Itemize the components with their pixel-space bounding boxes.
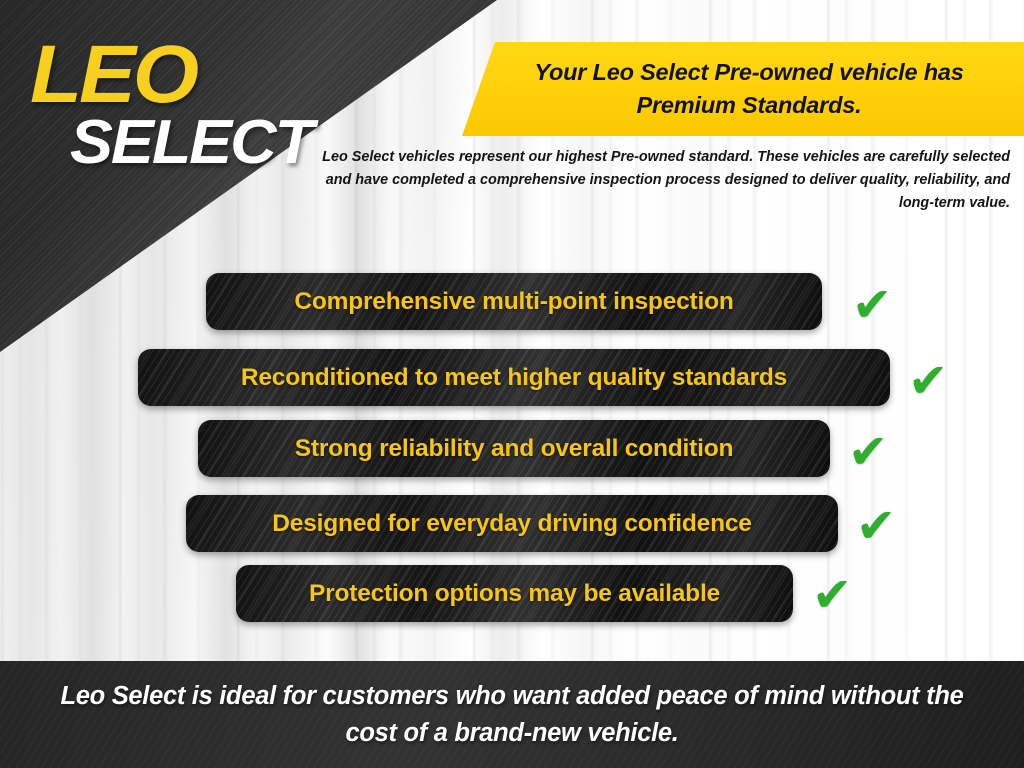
leo-select-logo: LEO SELECT bbox=[28, 28, 328, 173]
feature-pill: Protection options may be available bbox=[236, 565, 793, 622]
intro-paragraph: Leo Select vehicles represent our highes… bbox=[310, 146, 1010, 214]
feature-label: Strong reliability and overall condition bbox=[273, 435, 756, 463]
feature-label: Protection options may be available bbox=[287, 580, 742, 608]
feature-row: Reconditioned to meet higher quality sta… bbox=[0, 340, 1024, 413]
feature-row: Strong reliability and overall condition… bbox=[0, 413, 1024, 486]
check-icon: ✔ bbox=[908, 357, 948, 405]
footer-banner: Leo Select is ideal for customers who wa… bbox=[0, 661, 1024, 768]
logo-text-select: SELECT bbox=[70, 112, 312, 174]
headline-text: Your Leo Select Pre-owned vehicle has Pr… bbox=[462, 56, 1024, 123]
feature-list: Comprehensive multi-point inspection ✔ R… bbox=[0, 267, 1024, 632]
feature-row: Designed for everyday driving confidence… bbox=[0, 486, 1024, 559]
feature-label: Designed for everyday driving confidence bbox=[250, 510, 773, 538]
feature-label: Reconditioned to meet higher quality sta… bbox=[219, 364, 809, 392]
feature-label: Comprehensive multi-point inspection bbox=[272, 288, 755, 316]
check-icon: ✔ bbox=[852, 281, 892, 329]
leo-select-promo-poster: LEO SELECT Your Leo Select Pre-owned veh… bbox=[0, 0, 1024, 768]
logo-text-leo: LEO bbox=[30, 34, 196, 116]
feature-pill: Reconditioned to meet higher quality sta… bbox=[138, 349, 890, 406]
feature-pill: Designed for everyday driving confidence bbox=[186, 495, 838, 552]
feature-row: Protection options may be available ✔ bbox=[0, 559, 1024, 632]
feature-row: Comprehensive multi-point inspection ✔ bbox=[0, 267, 1024, 340]
headline-banner: Your Leo Select Pre-owned vehicle has Pr… bbox=[462, 42, 1024, 136]
check-icon: ✔ bbox=[856, 502, 896, 550]
footer-text: Leo Select is ideal for customers who wa… bbox=[0, 678, 1024, 752]
feature-pill: Strong reliability and overall condition bbox=[198, 420, 830, 477]
check-icon: ✔ bbox=[848, 428, 888, 476]
feature-pill: Comprehensive multi-point inspection bbox=[206, 273, 822, 330]
check-icon: ✔ bbox=[812, 571, 852, 619]
